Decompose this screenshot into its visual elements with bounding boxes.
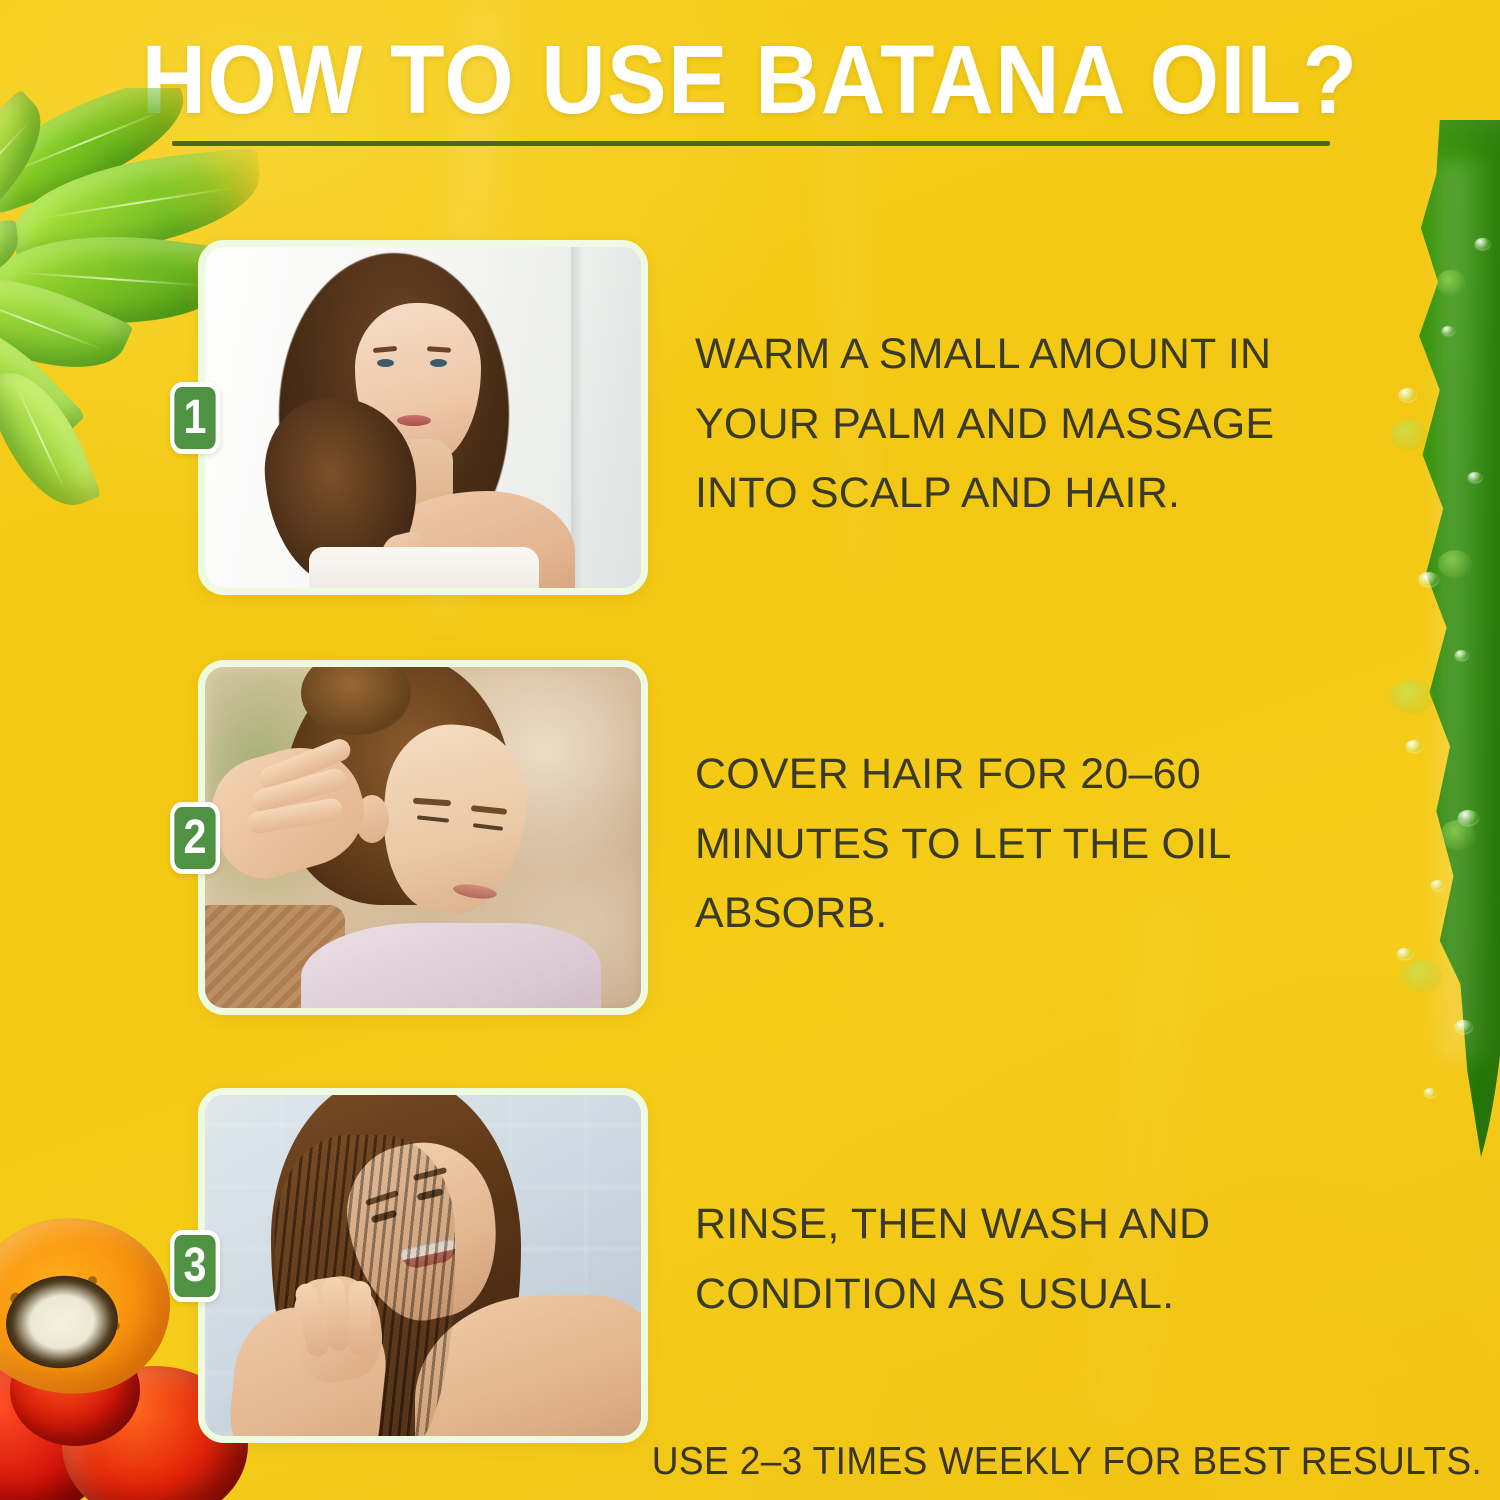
finger-shape — [349, 1281, 371, 1355]
eye-shape — [430, 359, 447, 367]
step-photo-1 — [205, 247, 641, 588]
footer-usage-note: USE 2–3 TIMES WEEKLY FOR BEST RESULTS. — [652, 1440, 1482, 1484]
lips-shape — [397, 415, 431, 426]
photo-background-edge — [571, 247, 583, 588]
step-description-1: WARM A SMALL AMOUNT IN YOUR PALM AND MAS… — [695, 320, 1335, 529]
eye-shape — [377, 359, 394, 367]
step-photo-card — [198, 240, 648, 595]
towel-shape — [309, 547, 539, 588]
step-photo-card — [198, 660, 648, 1015]
step-number-badge-3: 3 — [170, 1230, 220, 1302]
robe-shape — [301, 923, 601, 1008]
step-photo-card — [198, 1088, 648, 1443]
infographic-poster: HOW TO USE BATANA OIL? — [0, 0, 1500, 1500]
step-description-2: COVER HAIR FOR 20–60 MINUTES TO LET THE … — [695, 740, 1335, 949]
step-photo-2 — [205, 667, 641, 1008]
step-number-badge-1: 1 — [170, 382, 220, 454]
step-description-3: RINSE, THEN WASH AND CONDITION AS USUAL. — [695, 1190, 1335, 1329]
steps-list: 1 — [0, 0, 1500, 1500]
step-photo-3 — [205, 1095, 641, 1436]
step-number-badge-2: 2 — [170, 802, 220, 874]
